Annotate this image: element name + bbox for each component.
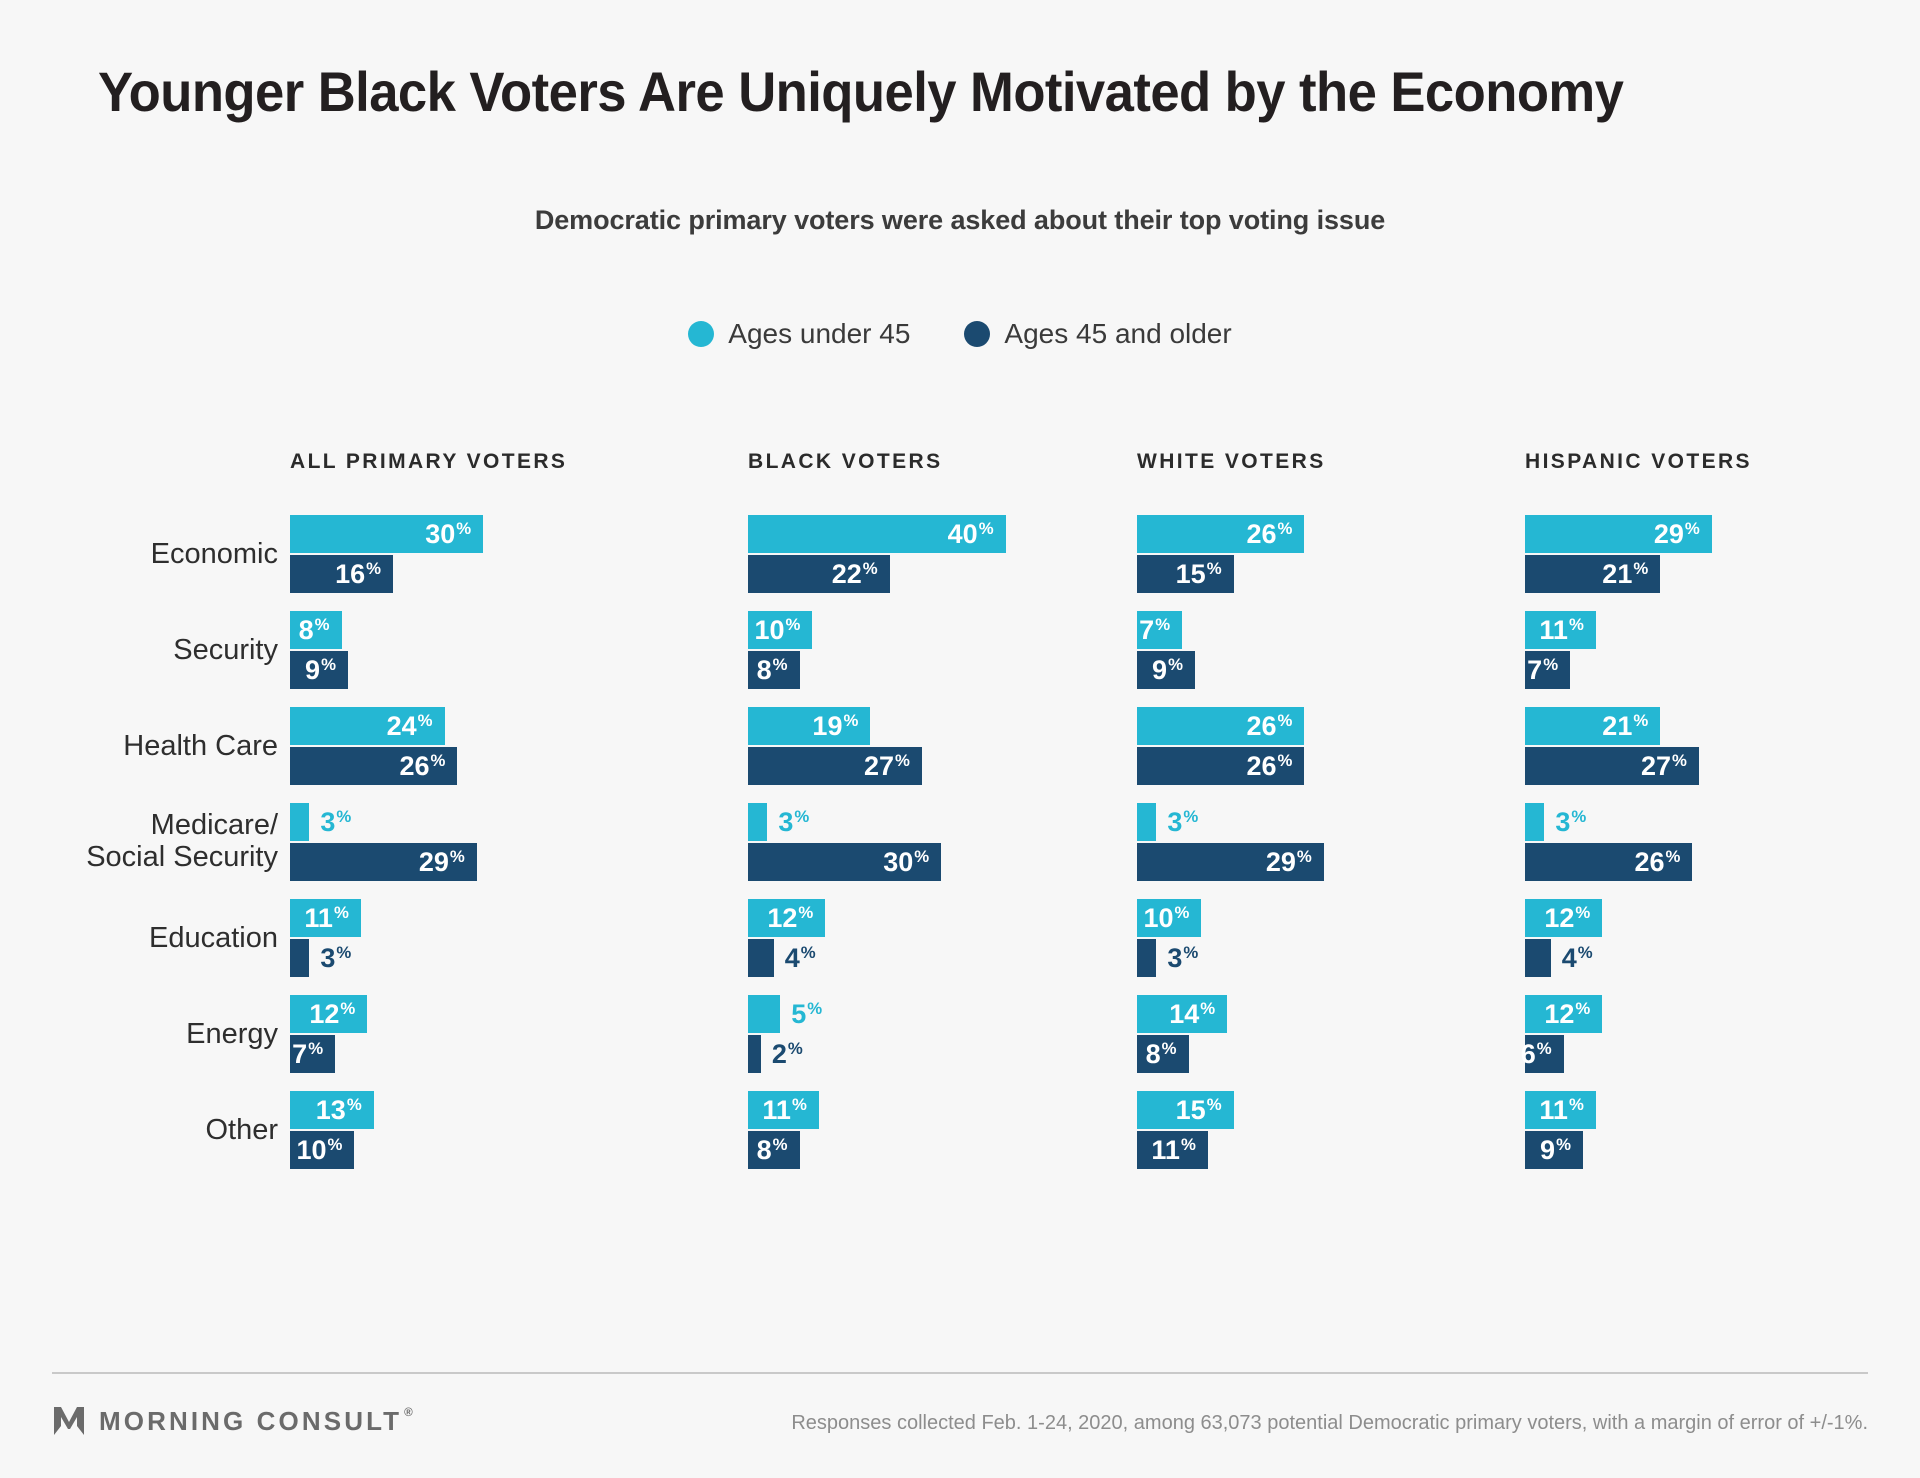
- percent-sign: %: [1155, 617, 1170, 634]
- bar-all-primary-voters-health-care-ages-under-45: 24%: [290, 707, 445, 745]
- bar-black-voters-health-care-ages-under-45: 19%: [748, 707, 870, 745]
- percent-sign: %: [1569, 1097, 1584, 1114]
- percent-sign: %: [1183, 809, 1198, 826]
- bar-white-voters-security-ages-45-and-older: 9%: [1137, 651, 1195, 689]
- bar-value-label: 10%: [1143, 905, 1201, 932]
- bar-white-voters-energy-ages-under-45: 14%: [1137, 995, 1227, 1033]
- bar-black-voters-energy-ages-45-and-older: 2%: [748, 1035, 761, 1073]
- percent-sign: %: [794, 809, 809, 826]
- morning-consult-logo-icon: [52, 1404, 86, 1438]
- bar-value-label: 15%: [1176, 561, 1234, 588]
- bar-value-label: 8%: [1146, 1041, 1189, 1068]
- percent-sign: %: [431, 753, 446, 770]
- bar-value-label: 30%: [883, 849, 941, 876]
- percent-sign: %: [321, 657, 336, 674]
- percent-sign: %: [786, 617, 801, 634]
- bar-value-label: 30%: [425, 521, 483, 548]
- bar-hispanic-voters-security-ages-under-45: 11%: [1525, 611, 1596, 649]
- bar-black-voters-economic-ages-45-and-older: 22%: [748, 555, 890, 593]
- bar-hispanic-voters-energy-ages-45-and-older: 6%: [1525, 1035, 1564, 1073]
- bar-hispanic-voters-medicare-social-security-ages-under-45: 3%: [1525, 803, 1544, 841]
- percent-sign: %: [801, 945, 816, 962]
- bar-value-label: 11%: [1151, 1137, 1207, 1164]
- bar-value-label: 12%: [1544, 905, 1602, 932]
- bar-white-voters-medicare-social-security-ages-45-and-older: 29%: [1137, 843, 1324, 881]
- percent-sign: %: [1183, 945, 1198, 962]
- bar-value-label: 11%: [762, 1097, 818, 1124]
- bar-value-label: 5%: [791, 1001, 822, 1028]
- bar-all-primary-voters-other-ages-under-45: 13%: [290, 1091, 374, 1129]
- bar-value-label: 10%: [754, 617, 812, 644]
- bar-value-label: 6%: [1521, 1041, 1564, 1068]
- row-label-health-care: Health Care: [0, 730, 278, 762]
- percent-sign: %: [1162, 1041, 1177, 1058]
- percent-sign: %: [418, 713, 433, 730]
- chart-canvas: Younger Black Voters Are Uniquely Motiva…: [0, 0, 1920, 1478]
- bar-white-voters-economic-ages-under-45: 26%: [1137, 515, 1304, 553]
- percent-sign: %: [1578, 945, 1593, 962]
- bar-all-primary-voters-medicare-social-security-ages-under-45: 3%: [290, 803, 309, 841]
- bar-value-label: 15%: [1176, 1097, 1234, 1124]
- bar-value-label: 29%: [1654, 521, 1712, 548]
- percent-sign: %: [863, 561, 878, 578]
- grouped-bar-chart: ALL PRIMARY VOTERSBLACK VOTERSWHITE VOTE…: [0, 0, 1920, 1478]
- bar-value-label: 26%: [1635, 849, 1693, 876]
- percent-sign: %: [347, 1097, 362, 1114]
- percent-sign: %: [336, 809, 351, 826]
- row-label-other: Other: [0, 1114, 278, 1146]
- bar-value-label: 3%: [1167, 945, 1198, 972]
- registered-trademark-icon: ®: [404, 1407, 416, 1419]
- percent-sign: %: [1181, 1137, 1196, 1154]
- percent-sign: %: [334, 905, 349, 922]
- bar-value-label: 16%: [335, 561, 393, 588]
- percent-sign: %: [1633, 713, 1648, 730]
- bar-white-voters-education-ages-under-45: 10%: [1137, 899, 1201, 937]
- bar-white-voters-medicare-social-security-ages-under-45: 3%: [1137, 803, 1156, 841]
- bar-value-label: 9%: [305, 657, 348, 684]
- row-label-education: Education: [0, 922, 278, 954]
- brand-name: MORNING CONSULT®: [99, 1406, 416, 1437]
- row-label-energy: Energy: [0, 1018, 278, 1050]
- bar-value-label: 26%: [1247, 521, 1305, 548]
- percent-sign: %: [1685, 521, 1700, 538]
- percent-sign: %: [1666, 849, 1681, 866]
- bar-value-label: 11%: [1539, 1097, 1595, 1124]
- bar-white-voters-security-ages-under-45: 7%: [1137, 611, 1182, 649]
- bar-black-voters-security-ages-under-45: 10%: [748, 611, 812, 649]
- bar-value-label: 8%: [757, 657, 800, 684]
- bar-white-voters-health-care-ages-45-and-older: 26%: [1137, 747, 1304, 785]
- bar-value-label: 13%: [316, 1097, 374, 1124]
- bar-hispanic-voters-education-ages-under-45: 12%: [1525, 899, 1602, 937]
- bar-value-label: 10%: [296, 1137, 354, 1164]
- percent-sign: %: [807, 1001, 822, 1018]
- bar-all-primary-voters-medicare-social-security-ages-45-and-older: 29%: [290, 843, 477, 881]
- bar-hispanic-voters-education-ages-45-and-older: 4%: [1525, 939, 1551, 977]
- bar-value-label: 4%: [785, 945, 816, 972]
- row-label-security: Security: [0, 634, 278, 666]
- bar-black-voters-other-ages-45-and-older: 8%: [748, 1131, 800, 1169]
- percent-sign: %: [843, 713, 858, 730]
- bar-value-label: 14%: [1169, 1001, 1227, 1028]
- percent-sign: %: [1175, 905, 1190, 922]
- bar-value-label: 22%: [832, 561, 890, 588]
- bar-hispanic-voters-medicare-social-security-ages-45-and-older: 26%: [1525, 843, 1692, 881]
- bar-hispanic-voters-health-care-ages-45-and-older: 27%: [1525, 747, 1699, 785]
- bar-value-label: 3%: [320, 809, 351, 836]
- bar-black-voters-health-care-ages-45-and-older: 27%: [748, 747, 922, 785]
- bar-all-primary-voters-health-care-ages-45-and-older: 26%: [290, 747, 457, 785]
- bar-black-voters-security-ages-45-and-older: 8%: [748, 651, 800, 689]
- brand-wordmark: MORNING CONSULT: [99, 1406, 402, 1437]
- percent-sign: %: [773, 657, 788, 674]
- footer-divider: [52, 1372, 1868, 1374]
- bar-value-label: 26%: [400, 753, 458, 780]
- bar-value-label: 3%: [320, 945, 351, 972]
- bar-value-label: 27%: [864, 753, 922, 780]
- bar-value-label: 24%: [387, 713, 445, 740]
- bar-value-label: 27%: [1641, 753, 1699, 780]
- percent-sign: %: [340, 1001, 355, 1018]
- percent-sign: %: [788, 1041, 803, 1058]
- percent-sign: %: [914, 849, 929, 866]
- bar-black-voters-education-ages-under-45: 12%: [748, 899, 825, 937]
- bar-hispanic-voters-health-care-ages-under-45: 21%: [1525, 707, 1660, 745]
- bar-value-label: 9%: [1540, 1137, 1583, 1164]
- percent-sign: %: [1569, 617, 1584, 634]
- bar-value-label: 40%: [948, 521, 1006, 548]
- bar-hispanic-voters-other-ages-under-45: 11%: [1525, 1091, 1596, 1129]
- bar-hispanic-voters-security-ages-45-and-older: 7%: [1525, 651, 1570, 689]
- bar-value-label: 9%: [1152, 657, 1195, 684]
- percent-sign: %: [328, 1137, 343, 1154]
- percent-sign: %: [1672, 753, 1687, 770]
- bar-hispanic-voters-energy-ages-under-45: 12%: [1525, 995, 1602, 1033]
- percent-sign: %: [1278, 713, 1293, 730]
- bar-value-label: 11%: [304, 905, 360, 932]
- bar-white-voters-other-ages-under-45: 15%: [1137, 1091, 1234, 1129]
- percent-sign: %: [1556, 1137, 1571, 1154]
- bar-value-label: 29%: [1266, 849, 1324, 876]
- percent-sign: %: [1200, 1001, 1215, 1018]
- percent-sign: %: [366, 561, 381, 578]
- bar-all-primary-voters-economic-ages-45-and-older: 16%: [290, 555, 393, 593]
- bar-white-voters-education-ages-45-and-older: 3%: [1137, 939, 1156, 977]
- percent-sign: %: [1571, 809, 1586, 826]
- column-header-all-primary-voters: ALL PRIMARY VOTERS: [290, 450, 567, 474]
- bar-all-primary-voters-economic-ages-under-45: 30%: [290, 515, 483, 553]
- column-header-white-voters: WHITE VOTERS: [1137, 450, 1326, 474]
- bar-value-label: 8%: [757, 1137, 800, 1164]
- bar-white-voters-energy-ages-45-and-older: 8%: [1137, 1035, 1189, 1073]
- percent-sign: %: [792, 1097, 807, 1114]
- percent-sign: %: [773, 1137, 788, 1154]
- bar-value-label: 3%: [1555, 809, 1586, 836]
- bar-value-label: 3%: [778, 809, 809, 836]
- bar-value-label: 21%: [1602, 561, 1660, 588]
- percent-sign: %: [450, 849, 465, 866]
- percent-sign: %: [1633, 561, 1648, 578]
- percent-sign: %: [315, 617, 330, 634]
- percent-sign: %: [1207, 561, 1222, 578]
- percent-sign: %: [1278, 521, 1293, 538]
- column-header-black-voters: BLACK VOTERS: [748, 450, 942, 474]
- row-label-medicare-social-security: Medicare/ Social Security: [0, 809, 278, 874]
- column-header-hispanic-voters: HISPANIC VOTERS: [1525, 450, 1752, 474]
- bar-all-primary-voters-security-ages-under-45: 8%: [290, 611, 342, 649]
- bar-all-primary-voters-security-ages-45-and-older: 9%: [290, 651, 348, 689]
- bar-value-label: 7%: [1527, 657, 1570, 684]
- bar-all-primary-voters-energy-ages-under-45: 12%: [290, 995, 367, 1033]
- bar-value-label: 8%: [299, 617, 342, 644]
- percent-sign: %: [1543, 657, 1558, 674]
- bar-hispanic-voters-economic-ages-45-and-older: 21%: [1525, 555, 1660, 593]
- bar-all-primary-voters-education-ages-45-and-older: 3%: [290, 939, 309, 977]
- bar-black-voters-economic-ages-under-45: 40%: [748, 515, 1006, 553]
- percent-sign: %: [1537, 1041, 1552, 1058]
- percent-sign: %: [1207, 1097, 1222, 1114]
- percent-sign: %: [1278, 753, 1293, 770]
- bar-black-voters-medicare-social-security-ages-45-and-older: 30%: [748, 843, 941, 881]
- bar-value-label: 12%: [767, 905, 825, 932]
- percent-sign: %: [308, 1041, 323, 1058]
- percent-sign: %: [1575, 905, 1590, 922]
- bar-value-label: 26%: [1247, 753, 1305, 780]
- bar-white-voters-economic-ages-45-and-older: 15%: [1137, 555, 1234, 593]
- bar-value-label: 12%: [309, 1001, 367, 1028]
- row-label-economic: Economic: [0, 538, 278, 570]
- bar-black-voters-energy-ages-under-45: 5%: [748, 995, 780, 1033]
- bar-value-label: 26%: [1247, 713, 1305, 740]
- bar-black-voters-other-ages-under-45: 11%: [748, 1091, 819, 1129]
- bar-value-label: 12%: [1544, 1001, 1602, 1028]
- bar-value-label: 19%: [812, 713, 870, 740]
- bar-all-primary-voters-other-ages-45-and-older: 10%: [290, 1131, 354, 1169]
- bar-hispanic-voters-economic-ages-under-45: 29%: [1525, 515, 1712, 553]
- percent-sign: %: [979, 521, 994, 538]
- bar-white-voters-other-ages-45-and-older: 11%: [1137, 1131, 1208, 1169]
- bar-value-label: 11%: [1539, 617, 1595, 644]
- percent-sign: %: [336, 945, 351, 962]
- bar-all-primary-voters-education-ages-under-45: 11%: [290, 899, 361, 937]
- bar-all-primary-voters-energy-ages-45-and-older: 7%: [290, 1035, 335, 1073]
- bar-black-voters-education-ages-45-and-older: 4%: [748, 939, 774, 977]
- percent-sign: %: [1168, 657, 1183, 674]
- percent-sign: %: [456, 521, 471, 538]
- bar-value-label: 7%: [292, 1041, 335, 1068]
- bar-white-voters-health-care-ages-under-45: 26%: [1137, 707, 1304, 745]
- bar-value-label: 29%: [419, 849, 477, 876]
- bar-hispanic-voters-other-ages-45-and-older: 9%: [1525, 1131, 1583, 1169]
- percent-sign: %: [1297, 849, 1312, 866]
- source-note: Responses collected Feb. 1-24, 2020, amo…: [791, 1412, 1868, 1435]
- percent-sign: %: [895, 753, 910, 770]
- bar-black-voters-medicare-social-security-ages-under-45: 3%: [748, 803, 767, 841]
- percent-sign: %: [1575, 1001, 1590, 1018]
- brand-logo: MORNING CONSULT®: [52, 1404, 416, 1438]
- bar-value-label: 4%: [1562, 945, 1593, 972]
- bar-value-label: 21%: [1602, 713, 1660, 740]
- bar-value-label: 7%: [1139, 617, 1182, 644]
- bar-value-label: 2%: [772, 1041, 803, 1068]
- percent-sign: %: [798, 905, 813, 922]
- bar-value-label: 3%: [1167, 809, 1198, 836]
